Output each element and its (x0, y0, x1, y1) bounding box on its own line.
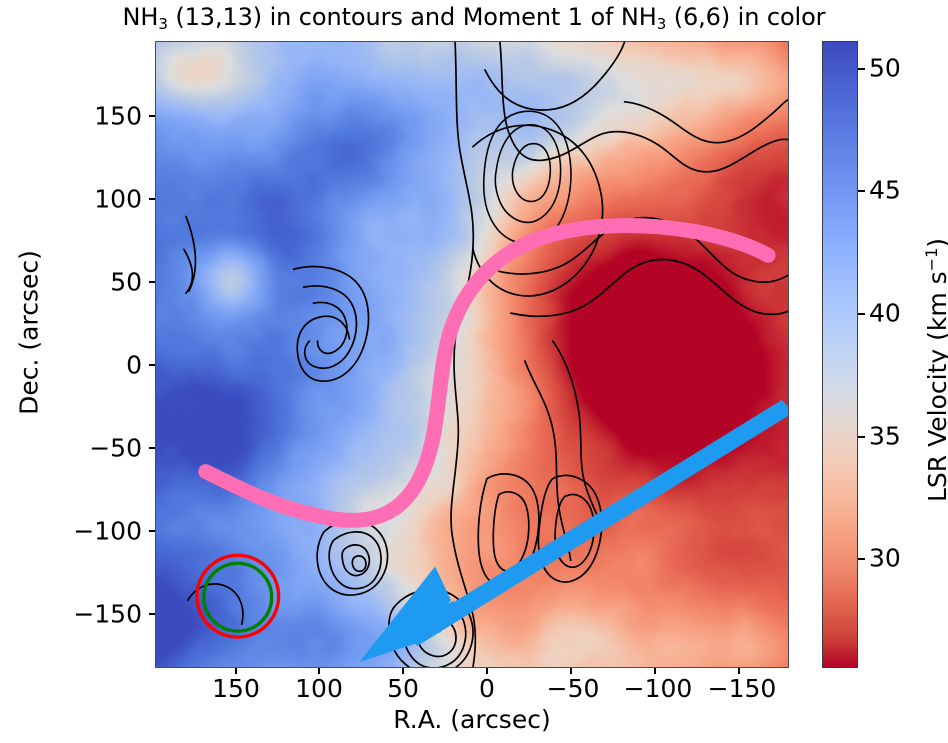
y-tick-label: 150 (47, 104, 142, 129)
x-axis-title: R.A. (arcsec) (155, 705, 789, 734)
y-tick-label: 50 (47, 270, 142, 295)
y-tickmark (149, 115, 155, 117)
y-tickmark (149, 530, 155, 532)
title-sub-a: 3 (158, 15, 167, 33)
title-text-a: NH (123, 3, 159, 31)
colorbar-title: LSR Velocity (km s−1) (922, 190, 948, 550)
y-tick-label: −100 (47, 519, 142, 544)
colorbar-tickmark (858, 68, 865, 70)
title-sub-b: 3 (657, 15, 666, 33)
x-tick-label: −100 (624, 676, 693, 701)
colorbar (822, 41, 858, 668)
outflow-arrow (359, 400, 788, 662)
colorbar-title-tail: ) (923, 238, 948, 248)
colorbar-title-main: LSR Velocity (km s (923, 271, 948, 502)
y-axis-title: Dec. (arcsec) (15, 183, 44, 483)
overlay-layer (156, 42, 788, 667)
colorbar-tick-label: 45 (869, 178, 901, 203)
nh3-13-13-contours (184, 42, 788, 667)
x-tick-label: 150 (212, 676, 260, 701)
x-tick-label: 100 (295, 676, 343, 701)
y-tick-label: −50 (47, 436, 142, 461)
figure-canvas: NH3 (13,13) in contours and Moment 1 of … (0, 0, 948, 743)
y-tick-label: 100 (47, 187, 142, 212)
colorbar-tickmark (858, 558, 865, 560)
moment1-map-panel (155, 41, 789, 668)
figure-title: NH3 (13,13) in contours and Moment 1 of … (0, 2, 948, 39)
colorbar-tick-label: 50 (869, 56, 901, 81)
y-tickmark (149, 281, 155, 283)
y-tick-label: 0 (47, 353, 142, 378)
x-tick-label: 50 (387, 676, 419, 701)
colorbar-tick-label: 35 (869, 424, 901, 449)
title-text-c: (6,6) in color (666, 3, 825, 31)
title-text-b: (13,13) in contours and Moment 1 of NH (168, 3, 657, 31)
colorbar-tickmark (858, 436, 865, 438)
x-tick-label: −150 (708, 676, 777, 701)
y-tickmark (149, 364, 155, 366)
colorbar-tick-label: 30 (869, 546, 901, 571)
x-tick-label: 0 (479, 676, 495, 701)
colorbar-tickmark (858, 313, 865, 315)
colorbar-title-exponent: −1 (922, 248, 941, 272)
colorbar-tick-label: 40 (869, 301, 901, 326)
y-tickmark (149, 198, 155, 200)
x-tick-label: −50 (547, 676, 600, 701)
y-tickmark (149, 447, 155, 449)
colorbar-tickmark (858, 190, 865, 192)
y-tickmark (149, 613, 155, 615)
y-tick-label: −150 (47, 602, 142, 627)
